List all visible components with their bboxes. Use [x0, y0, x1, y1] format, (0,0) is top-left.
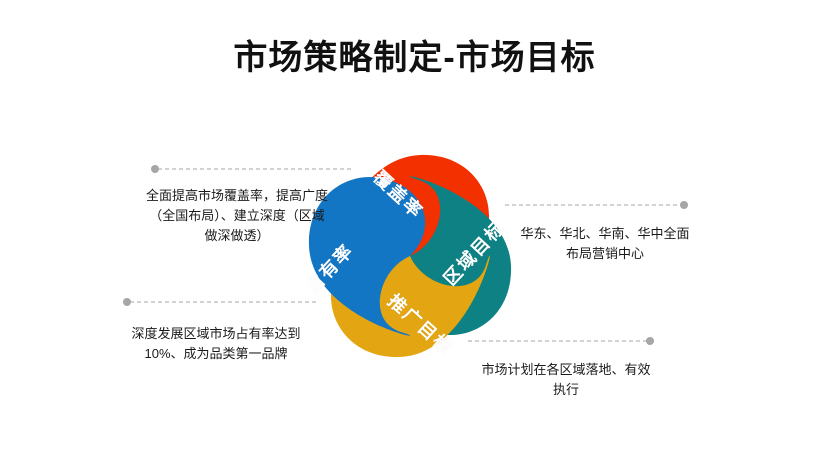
connector-dot-region [680, 201, 688, 209]
connector-dot-promotion [646, 337, 654, 345]
diagram-graphics [0, 0, 829, 475]
callout-text-coverage: 全面提高市场覆盖率，提高广度（全国布局）、建立深度（区域做深做透） [146, 186, 328, 246]
callout-text-share: 深度发展区域市场占有率达到10%、成为品类第一品牌 [124, 324, 308, 364]
slide-canvas: 市场策略制定-市场目标 [0, 0, 829, 475]
connector-dot-share [123, 298, 131, 306]
connector-dot-coverage [151, 165, 159, 173]
callout-text-region: 华东、华北、华南、华中全面布局营销中心 [520, 224, 690, 264]
callout-text-promotion: 市场计划在各区域落地、有效执行 [477, 360, 655, 400]
pinwheel-diagram: 覆盖率 区域目标 推广目标 占有率 全面提高市场覆盖率，提高广度（全国布局）、建… [0, 0, 829, 475]
